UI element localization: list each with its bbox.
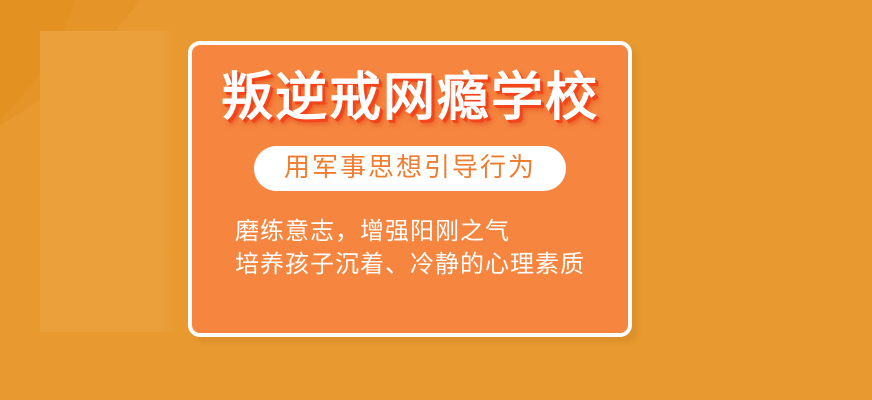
banner-headline: 叛逆戒网瘾学校 <box>221 71 599 126</box>
promo-banner: 叛逆戒网瘾学校 用军事思想引导行为 磨练意志，增强阳刚之气 培养孩子沉着、冷静的… <box>0 0 872 400</box>
description-line-1: 磨练意志，增强阳刚之气 <box>235 215 585 248</box>
content-card: 叛逆戒网瘾学校 用军事思想引导行为 磨练意志，增强阳刚之气 培养孩子沉着、冷静的… <box>188 41 632 337</box>
subtitle-pill: 用军事思想引导行为 <box>254 146 566 191</box>
description-line-2: 培养孩子沉着、冷静的心理素质 <box>235 248 585 281</box>
description-block: 磨练意志，增强阳刚之气 培养孩子沉着、冷静的心理素质 <box>235 215 585 281</box>
background-block-decoration <box>40 31 176 332</box>
subtitle-pill-label: 用军事思想引导行为 <box>284 152 536 182</box>
background-seam-decoration <box>160 31 176 332</box>
